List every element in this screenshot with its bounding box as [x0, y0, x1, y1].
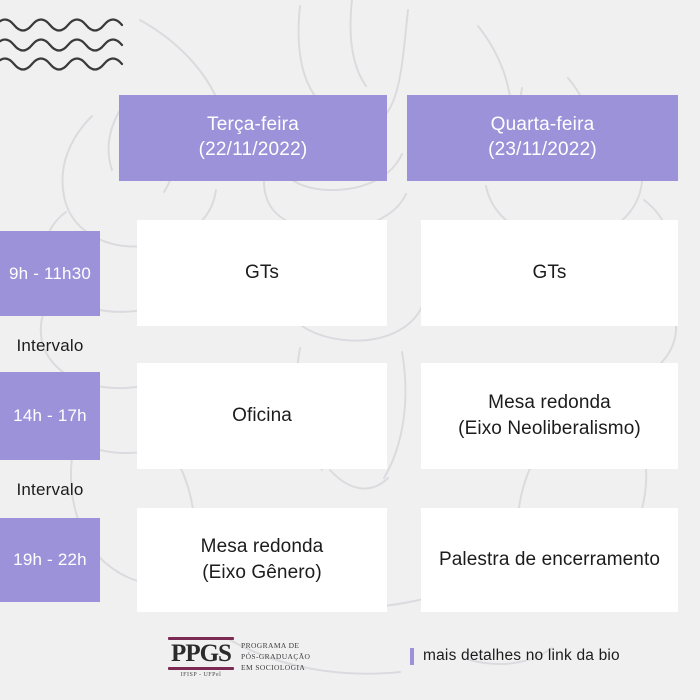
- time-slot-afternoon: 14h - 17h: [0, 372, 100, 460]
- ppgs-institution: IFISP - UFPel: [168, 672, 234, 678]
- ppgs-program-line-2: Pós-Graduação: [241, 652, 310, 663]
- ppgs-program-text: Programa de Pós-Graduação em Sociologia: [241, 641, 310, 674]
- session-title: GTs: [532, 260, 566, 286]
- day-header-name: Quarta-feira: [488, 113, 597, 138]
- break-label-afternoon: Intervalo: [0, 474, 100, 506]
- session-title: Palestra de encerramento: [439, 547, 660, 573]
- time-slot-morning: 9h - 11h30: [0, 231, 100, 316]
- wavy-lines-icon: [0, 12, 132, 76]
- session-title: GTs: [245, 260, 279, 286]
- day-header-name: Terça-feira: [199, 113, 308, 138]
- session-cell-quarta-morning: GTs: [421, 220, 678, 326]
- day-header-terca: Terça-feira (22/11/2022): [119, 95, 387, 181]
- session-title: Oficina: [232, 403, 292, 429]
- session-title: Mesa redonda: [201, 534, 324, 560]
- session-cell-quarta-evening: Palestra de encerramento: [421, 508, 678, 612]
- bio-note-text: mais detalhes no link da bio: [423, 647, 620, 665]
- session-cell-terca-morning: GTs: [137, 220, 387, 326]
- session-subtitle: (Eixo Neoliberalismo): [458, 416, 641, 442]
- day-header-date: (23/11/2022): [488, 138, 597, 163]
- session-subtitle: (Eixo Gênero): [201, 560, 324, 586]
- session-cell-terca-afternoon: Oficina: [137, 363, 387, 469]
- session-title: Mesa redonda: [458, 390, 641, 416]
- day-header-date: (22/11/2022): [199, 138, 308, 163]
- break-label-morning: Intervalo: [0, 330, 100, 362]
- ppgs-program-line-3: em Sociologia: [241, 663, 310, 674]
- session-cell-quarta-afternoon: Mesa redonda (Eixo Neoliberalismo): [421, 363, 678, 469]
- time-slot-evening: 19h - 22h: [0, 518, 100, 602]
- accent-bar-icon: [410, 648, 414, 665]
- poster-footer: PPGS IFISP - UFPel Programa de Pós-Gradu…: [0, 625, 700, 700]
- bio-link-note: mais detalhes no link da bio: [410, 647, 620, 665]
- day-header-quarta: Quarta-feira (23/11/2022): [407, 95, 678, 181]
- logo-bar-bottom: [168, 667, 234, 670]
- ppgs-acronym: PPGS: [168, 641, 234, 666]
- session-cell-terca-evening: Mesa redonda (Eixo Gênero): [137, 508, 387, 612]
- event-schedule-poster: Terça-feira (22/11/2022) Quarta-feira (2…: [0, 0, 700, 700]
- ppgs-logo-mark: PPGS IFISP - UFPel: [168, 637, 234, 678]
- ppgs-logo: PPGS IFISP - UFPel Programa de Pós-Gradu…: [168, 637, 310, 678]
- ppgs-program-line-1: Programa de: [241, 641, 310, 652]
